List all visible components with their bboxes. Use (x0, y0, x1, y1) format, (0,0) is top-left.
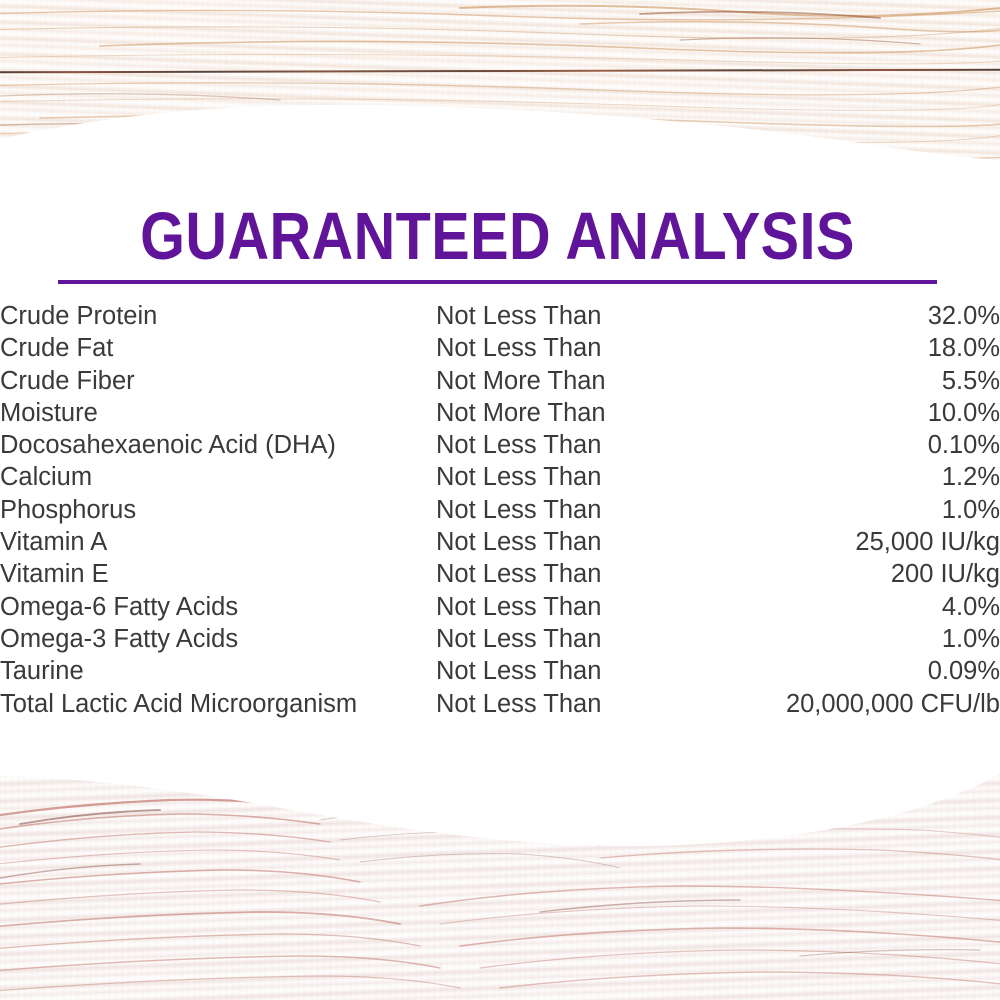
qualifier-label: Not Less Than (436, 655, 696, 687)
value-label: 0.09% (696, 655, 1000, 687)
table-row: Calcium Not Less Than 1.2% (0, 461, 1000, 493)
table-row: Total Lactic Acid Microorganism Not Less… (0, 688, 1000, 720)
table-row: Vitamin E Not Less Than 200 IU/kg (0, 558, 1000, 590)
table-row: Omega-3 Fatty Acids Not Less Than 1.0% (0, 623, 1000, 655)
analysis-table-body: Crude Protein Not Less Than 32.0% Crude … (0, 300, 1000, 720)
qualifier-label: Not Less Than (436, 591, 696, 623)
nutrient-label: Crude Fat (0, 332, 436, 364)
nutrient-label: Calcium (0, 461, 436, 493)
qualifier-label: Not Less Than (436, 494, 696, 526)
nutrient-label: Omega-3 Fatty Acids (0, 623, 436, 655)
qualifier-label: Not Less Than (436, 332, 696, 364)
page-title: GUARANTEED ANALYSIS (120, 206, 876, 268)
qualifier-label: Not Less Than (436, 461, 696, 493)
title-divider-rule (58, 280, 937, 284)
nutrient-label: Phosphorus (0, 494, 436, 526)
nutrient-label: Vitamin E (0, 558, 436, 590)
title-block: GUARANTEED ANALYSIS (58, 206, 937, 284)
nutrient-label: Vitamin A (0, 526, 436, 558)
value-label: 18.0% (696, 332, 1000, 364)
nutrient-label: Omega-6 Fatty Acids (0, 591, 436, 623)
nutrient-label: Crude Fiber (0, 365, 436, 397)
qualifier-label: Not Less Than (436, 526, 696, 558)
guaranteed-analysis-panel: GUARANTEED ANALYSIS Crude Protein Not Le… (0, 0, 1000, 1000)
value-label: 1.0% (696, 623, 1000, 655)
value-label: 10.0% (696, 397, 1000, 429)
qualifier-label: Not More Than (436, 365, 696, 397)
value-label: 200 IU/kg (696, 558, 1000, 590)
qualifier-label: Not Less Than (436, 623, 696, 655)
nutrient-label: Docosahexaenoic Acid (DHA) (0, 429, 436, 461)
value-label: 32.0% (696, 300, 1000, 332)
table-row: Taurine Not Less Than 0.09% (0, 655, 1000, 687)
wood-background-bottom (0, 760, 1000, 1000)
nutrient-label: Moisture (0, 397, 436, 429)
wave-divider-bottom (0, 760, 1000, 1000)
table-row: Crude Fiber Not More Than 5.5% (0, 365, 1000, 397)
table-row: Vitamin A Not Less Than 25,000 IU/kg (0, 526, 1000, 558)
value-label: 20,000,000 CFU/lb (696, 688, 1000, 720)
value-label: 1.2% (696, 461, 1000, 493)
qualifier-label: Not Less Than (436, 688, 696, 720)
table-row: Docosahexaenoic Acid (DHA) Not Less Than… (0, 429, 1000, 461)
value-label: 25,000 IU/kg (696, 526, 1000, 558)
guaranteed-analysis-table: Crude Protein Not Less Than 32.0% Crude … (0, 300, 1000, 720)
value-label: 1.0% (696, 494, 1000, 526)
table-row: Phosphorus Not Less Than 1.0% (0, 494, 1000, 526)
value-label: 5.5% (696, 365, 1000, 397)
qualifier-label: Not Less Than (436, 300, 696, 332)
analysis-card: GUARANTEED ANALYSIS Crude Protein Not Le… (0, 160, 1000, 800)
nutrient-label: Taurine (0, 655, 436, 687)
qualifier-label: Not More Than (436, 397, 696, 429)
nutrient-label: Crude Protein (0, 300, 436, 332)
nutrient-label: Total Lactic Acid Microorganism (0, 688, 436, 720)
qualifier-label: Not Less Than (436, 429, 696, 461)
table-row: Crude Fat Not Less Than 18.0% (0, 332, 1000, 364)
table-row: Crude Protein Not Less Than 32.0% (0, 300, 1000, 332)
value-label: 4.0% (696, 591, 1000, 623)
table-row: Omega-6 Fatty Acids Not Less Than 4.0% (0, 591, 1000, 623)
table-row: Moisture Not More Than 10.0% (0, 397, 1000, 429)
qualifier-label: Not Less Than (436, 558, 696, 590)
value-label: 0.10% (696, 429, 1000, 461)
